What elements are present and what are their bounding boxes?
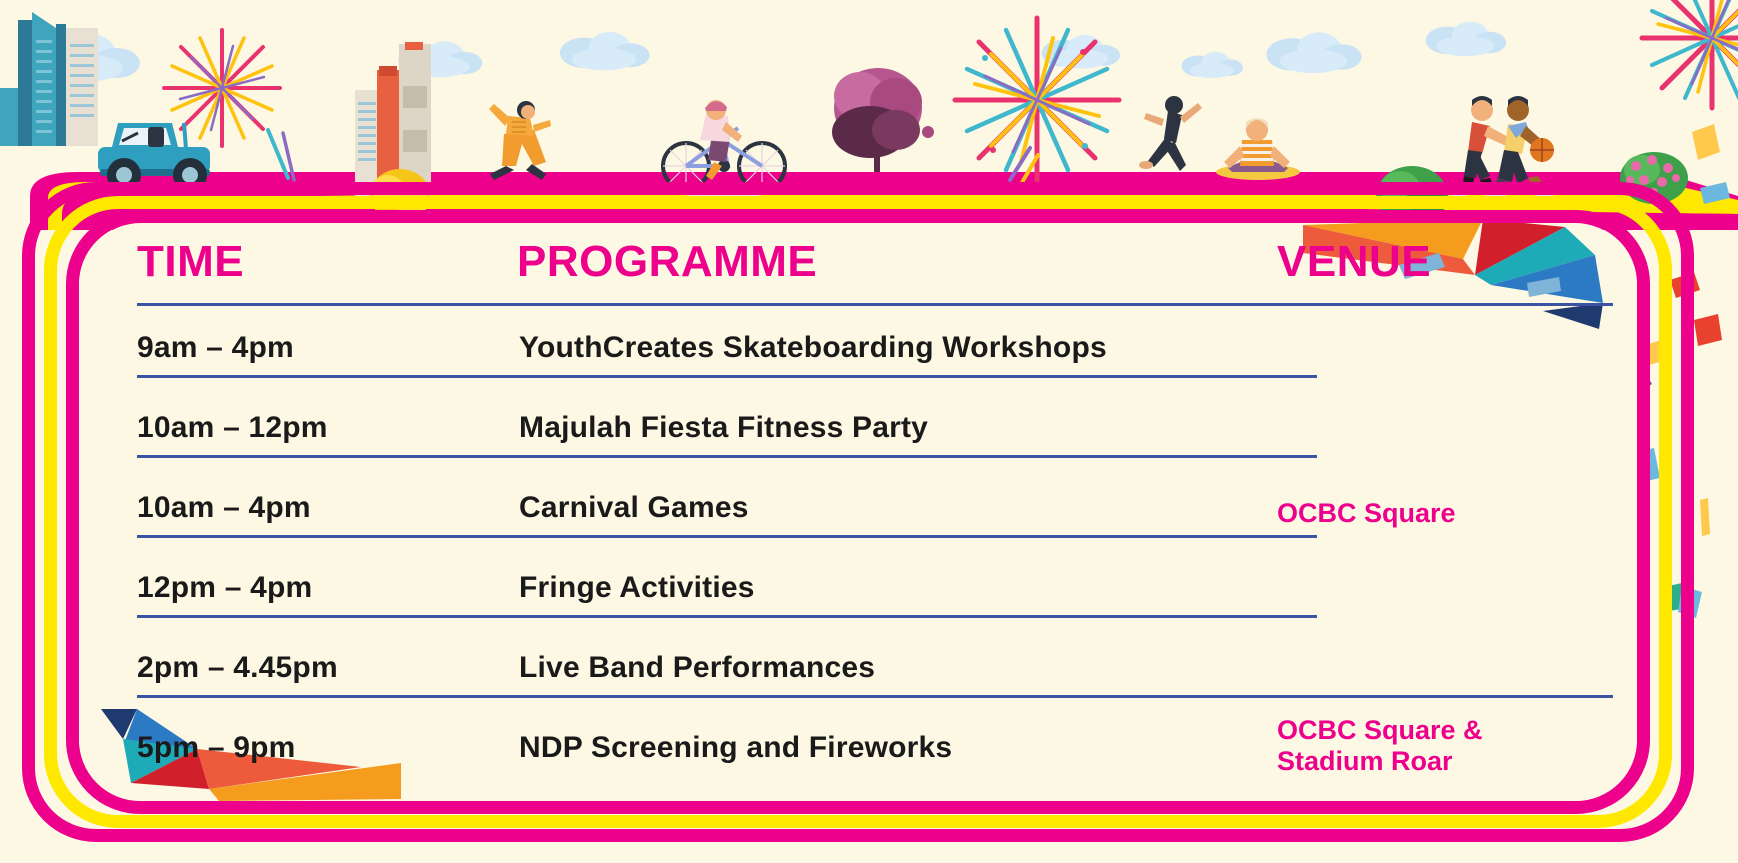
cell-programme: Fringe Activities [519, 571, 755, 605]
programme-card: TIME PROGRAMME VENUE 9am – 4pm YouthCrea… [79, 223, 1637, 801]
firework-trail [268, 130, 294, 180]
firework-icon [1642, 0, 1738, 108]
firework-trail [1010, 148, 1038, 186]
divider-row-3 [137, 535, 1317, 538]
divider-row-1 [137, 375, 1317, 378]
dancer-icon [1139, 96, 1202, 171]
divider-header [137, 303, 1613, 306]
cell-time: 2pm – 4.45pm [137, 651, 338, 685]
cloud-icon [398, 41, 482, 77]
cell-time: 10am – 12pm [137, 411, 328, 445]
cell-programme: YouthCreates Skateboarding Workshops [519, 331, 1107, 365]
firework-icon [164, 30, 280, 146]
programme-table: TIME PROGRAMME VENUE 9am – 4pm YouthCrea… [79, 223, 1637, 801]
cell-time: 5pm – 9pm [137, 731, 296, 765]
firework-icon [955, 18, 1119, 182]
cell-time: 9am – 4pm [137, 331, 294, 365]
yoga-person-icon [1216, 118, 1300, 180]
cloud-icon [1426, 22, 1507, 57]
cloud-icon [560, 32, 650, 70]
cell-programme: NDP Screening and Fireworks [519, 731, 952, 765]
confetti-right-edge [1690, 300, 1738, 620]
skyscrapers-icon [0, 12, 98, 146]
cloud-icon [28, 34, 140, 82]
column-header-programme: PROGRAMME [517, 240, 817, 284]
column-header-time: TIME [137, 240, 244, 284]
venue-line-1: OCBC Square & [1277, 715, 1483, 746]
cell-programme: Live Band Performances [519, 651, 875, 685]
cell-programme: Carnival Games [519, 491, 749, 525]
venue-line-2: Stadium Roar [1277, 746, 1483, 777]
cell-time: 12pm – 4pm [137, 571, 312, 605]
column-header-venue: VENUE [1277, 240, 1431, 284]
divider-row-4 [137, 615, 1317, 618]
cell-programme: Majulah Fiesta Fitness Party [519, 411, 928, 445]
cloud-icon [1181, 52, 1243, 78]
divider-row-5 [137, 695, 1613, 698]
divider-row-2 [137, 455, 1317, 458]
cell-time: 10am – 4pm [137, 491, 311, 525]
martial-artist-icon [489, 101, 551, 180]
cloud-icon [1267, 32, 1362, 73]
tree-icon [832, 68, 934, 172]
cell-venue-ocbc-square-stadium-roar: OCBC Square & Stadium Roar [1277, 715, 1483, 778]
cloud-icon [1042, 35, 1120, 69]
cell-venue-ocbc-square: OCBC Square [1277, 498, 1456, 529]
